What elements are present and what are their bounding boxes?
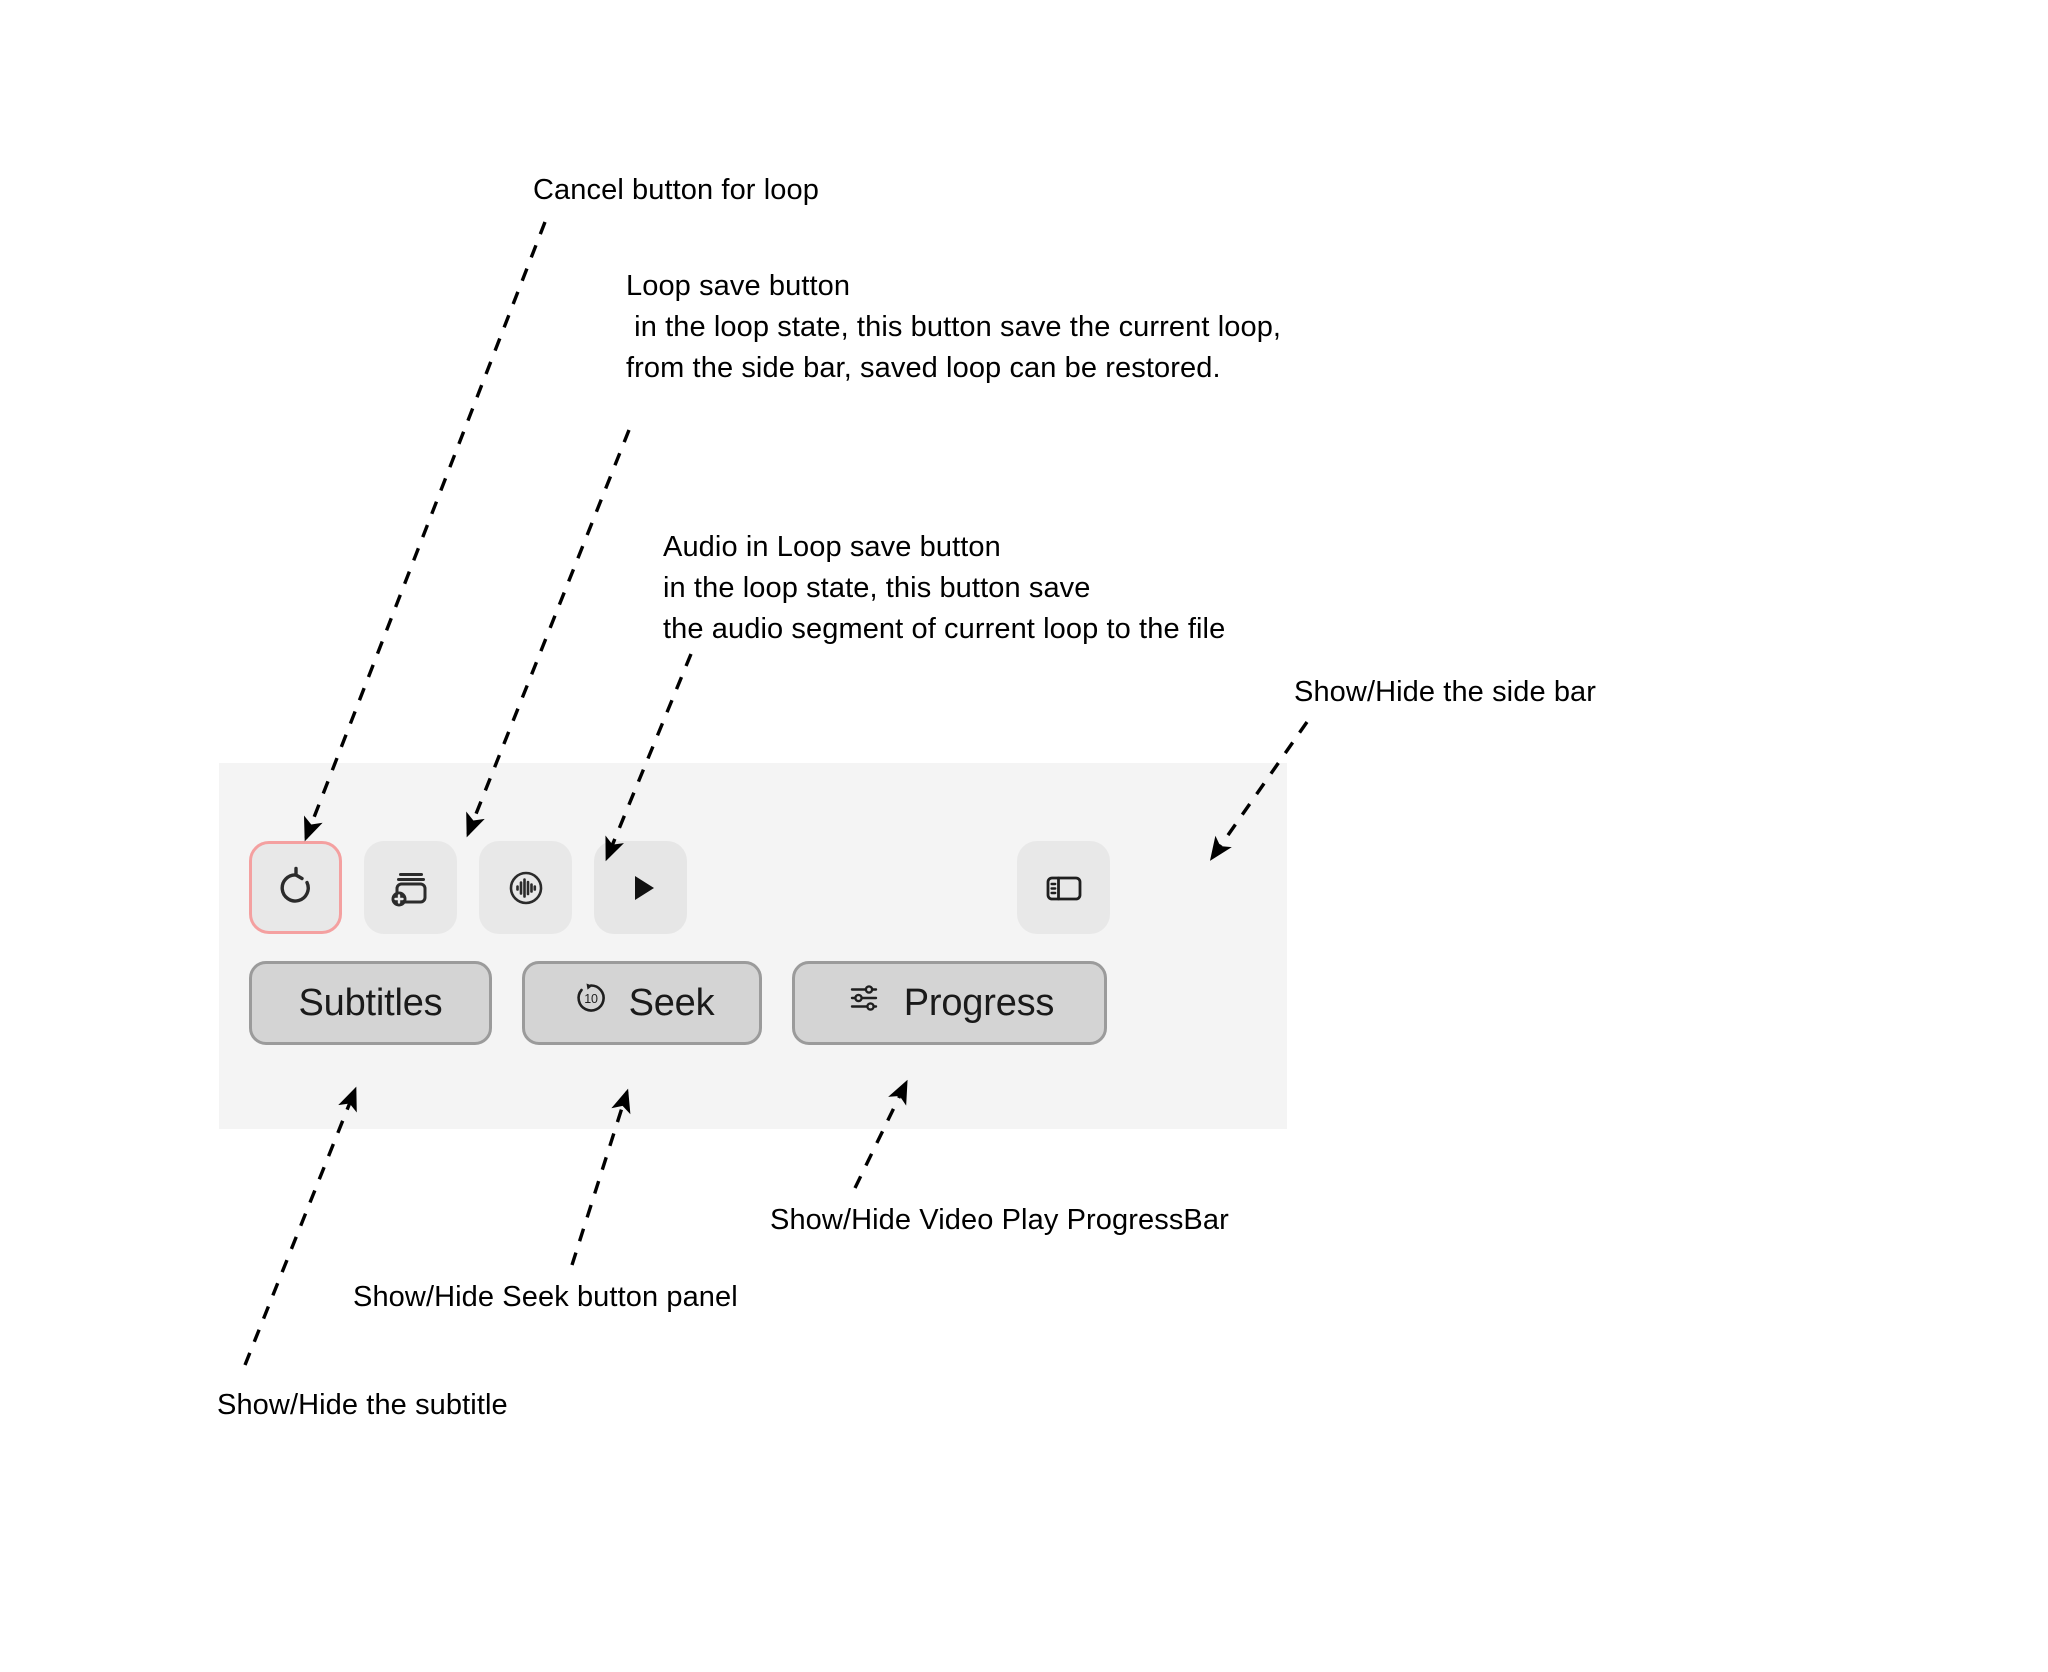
seek-button[interactable]: 10 Seek <box>522 961 762 1045</box>
annotation-cancel-loop: Cancel button for loop <box>533 170 819 211</box>
subtitles-button-label: Subtitles <box>299 982 443 1025</box>
annotation-loop-save-line3: from the side bar, saved loop can be res… <box>626 348 1221 389</box>
arrow-cancel-loop <box>306 222 545 838</box>
sidebar-toggle-button[interactable] <box>1017 841 1110 934</box>
svg-text:10: 10 <box>584 992 598 1006</box>
audio-loop-save-button[interactable] <box>479 841 572 934</box>
progress-button[interactable]: Progress <box>792 961 1107 1045</box>
annotation-subtitle-toggle: Show/Hide the subtitle <box>217 1385 508 1426</box>
toolbar-icon-row <box>249 841 1110 934</box>
audio-waveform-circle-icon <box>501 863 551 913</box>
annotation-loop-save-line1: Loop save button <box>626 266 850 307</box>
goforward-10-icon: 10 <box>570 977 612 1029</box>
stack-plus-icon <box>386 863 436 913</box>
toolbar-pill-row: Subtitles 10 Seek <box>249 961 1107 1045</box>
annotation-audio-loop-line3: the audio segment of current loop to the… <box>663 609 1225 650</box>
annotation-seek-toggle: Show/Hide Seek button panel <box>353 1277 738 1318</box>
annotation-progressbar-toggle: Show/Hide Video Play ProgressBar <box>770 1200 1229 1241</box>
seek-button-label: Seek <box>629 982 715 1025</box>
annotation-audio-loop-line1: Audio in Loop save button <box>663 527 1001 568</box>
cancel-loop-button[interactable] <box>249 841 342 934</box>
loop-save-button[interactable] <box>364 841 457 934</box>
screenshot-canvas: Cancel button for loop Loop save button … <box>0 0 2048 1672</box>
play-button[interactable] <box>594 841 687 934</box>
sliders-icon <box>845 977 887 1029</box>
play-triangle-icon <box>616 863 666 913</box>
sidebar-panel-icon <box>1039 863 1089 913</box>
annotation-audio-loop-line2: in the loop state, this button save <box>663 568 1091 609</box>
arrow-subtitle-toggle <box>245 1090 355 1365</box>
subtitles-button[interactable]: Subtitles <box>249 961 492 1045</box>
toolbar-spacer <box>709 887 995 888</box>
annotation-sidebar-toggle: Show/Hide the side bar <box>1294 672 1596 713</box>
video-player-toolbar-panel: Subtitles 10 Seek <box>219 763 1287 1129</box>
loop-rewind-arrow-icon <box>271 863 321 913</box>
annotation-loop-save-line2: in the loop state, this button save the … <box>626 307 1281 348</box>
progress-button-label: Progress <box>904 982 1054 1025</box>
